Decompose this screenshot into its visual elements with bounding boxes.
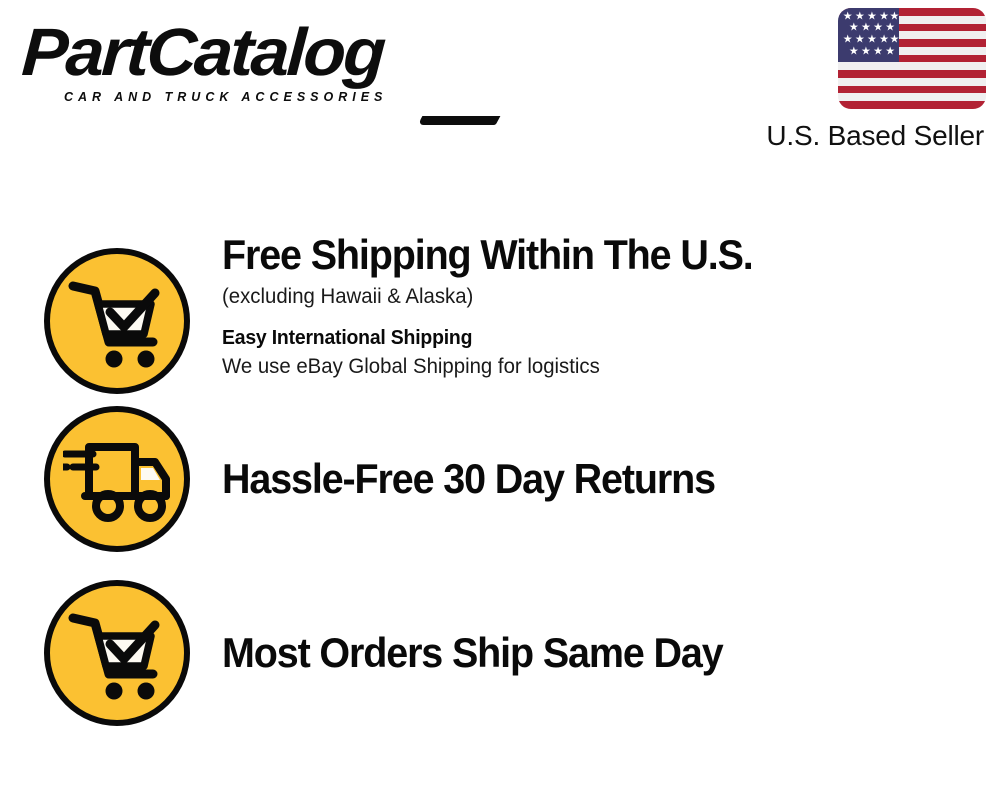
feature-row: Most Orders Ship Same Day <box>0 565 1000 740</box>
feature-text-block: Hassle-Free 30 Day Returns <box>222 457 1000 501</box>
brand-tagline: CAR AND TRUCK ACCESSORIES <box>64 90 492 104</box>
feature-list: Free Shipping Within The U.S. (excluding… <box>0 215 1000 740</box>
feature-subline: (excluding Hawaii & Alaska) <box>222 284 977 310</box>
flag-star: ★ <box>843 34 853 45</box>
flag-star: ★ <box>849 22 859 33</box>
flag-star: ★ <box>867 34 877 45</box>
shopping-cart-check-icon <box>44 580 190 726</box>
promo-banner: PartCatalog CAR AND TRUCK ACCESSORIES <box>0 0 1000 800</box>
brand-logo: PartCatalog CAR AND TRUCK ACCESSORIES <box>22 20 492 104</box>
flag-stripe <box>838 70 986 78</box>
shopping-cart-check-icon <box>44 248 190 394</box>
delivery-truck-icon <box>44 406 190 552</box>
feature-subhead: Easy International Shipping <box>222 326 977 350</box>
flag-star: ★ <box>861 46 871 57</box>
us-based-seller-badge: ★ ★ ★ ★ ★ ★ ★ ★ ★ ★ ★ ★ ★ ★ ★ ★ ★ <box>716 8 986 152</box>
feature-subhead-detail: We use eBay Global Shipping for logistic… <box>222 354 977 380</box>
flag-star: ★ <box>873 22 883 33</box>
flag-star: ★ <box>885 22 895 33</box>
logo-underline-swoosh <box>418 116 501 125</box>
flag-stripe <box>838 62 986 70</box>
brand-wordmark: PartCatalog <box>20 20 512 86</box>
flag-star: ★ <box>889 34 899 45</box>
flag-canton: ★ ★ ★ ★ ★ ★ ★ ★ ★ ★ ★ ★ ★ ★ ★ ★ ★ <box>838 8 899 62</box>
feature-row: Hassle-Free 30 Day Returns <box>0 393 1000 565</box>
feature-headline: Hassle-Free 30 Day Returns <box>222 457 953 501</box>
flag-star: ★ <box>885 46 895 57</box>
flag-star: ★ <box>873 46 883 57</box>
feature-headline: Free Shipping Within The U.S. <box>222 233 953 277</box>
feature-headline: Most Orders Ship Same Day <box>222 631 953 675</box>
flag-stripe <box>838 93 986 101</box>
feature-text-block: Free Shipping Within The U.S. (excluding… <box>222 215 1000 380</box>
flag-star: ★ <box>855 34 865 45</box>
feature-row: Free Shipping Within The U.S. (excluding… <box>0 215 1000 393</box>
flag-star: ★ <box>849 46 859 57</box>
flag-stripe <box>838 78 986 86</box>
flag-star: ★ <box>861 22 871 33</box>
seller-caption: U.S. Based Seller <box>716 120 984 152</box>
flag-stripe <box>838 101 986 109</box>
banner-header: PartCatalog CAR AND TRUCK ACCESSORIES <box>0 0 1000 180</box>
feature-text-block: Most Orders Ship Same Day <box>222 631 1000 675</box>
flag-stripe <box>838 86 986 94</box>
flag-star: ★ <box>879 34 889 45</box>
us-flag-icon: ★ ★ ★ ★ ★ ★ ★ ★ ★ ★ ★ ★ ★ ★ ★ ★ ★ <box>838 8 986 109</box>
